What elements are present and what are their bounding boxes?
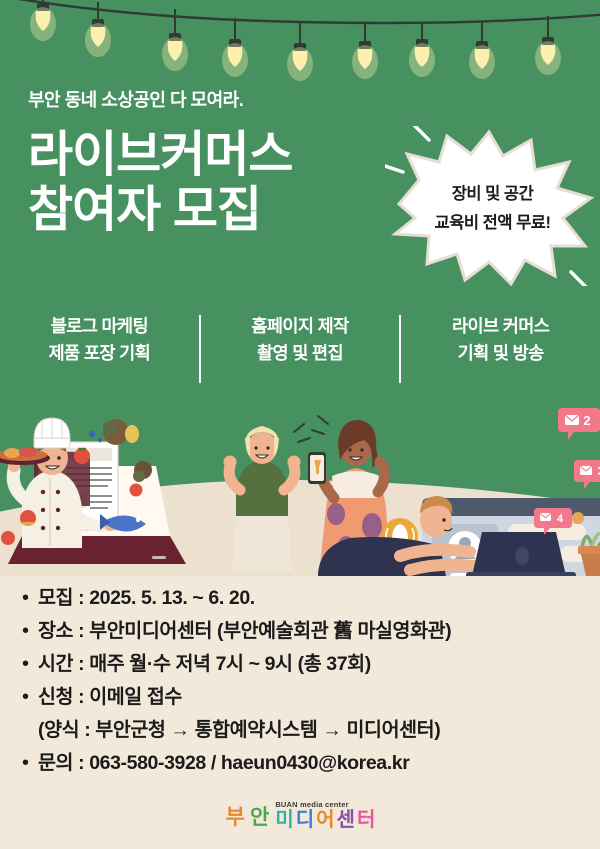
poster-root: 부안 동네 소상공인 다 모여라. 라이브커머스 참여자 모집 장비 및 공간 …: [0, 0, 600, 849]
logo-english-tagline: BUAN media center: [275, 800, 348, 809]
feature-1-line-2: 제품 포장 기획: [4, 340, 195, 367]
detail-time: 시간 : 매주 월·수 저녁 7시 ~ 9시 (총 37회): [38, 649, 371, 679]
logo-media-center: 미 디 어 센 터: [275, 810, 375, 830]
feature-2-line-2: 촬영 및 편집: [205, 340, 396, 367]
bullet-icon: •: [22, 649, 38, 679]
svg-text:4: 4: [557, 513, 564, 525]
detail-location: 장소 : 부안미디어센터 (부안예술회관 舊 마실영화관): [38, 616, 451, 646]
logo-char-mi: 미: [275, 810, 293, 830]
starburst-shape: [385, 126, 600, 286]
detail-row-form-path: (양식 : 부안군청 → 통합예약시스템 → 미디어센터): [22, 715, 592, 745]
feature-3-line-1: 라이브 커머스: [405, 313, 596, 340]
feature-column-3: 라이브 커머스 기획 및 방송: [401, 313, 600, 383]
feature-1-line-1: 블로그 마케팅: [4, 313, 195, 340]
feature-2-line-1: 홈페이지 제작: [205, 313, 396, 340]
string-lights-decoration: [0, 0, 600, 92]
illustration-scene: 2 3 4: [0, 396, 600, 576]
detail-apply: 신청 : 이메일 접수: [38, 682, 182, 712]
poster-title: 라이브커머스 참여자 모집: [28, 128, 292, 239]
feature-3-line-2: 기획 및 방송: [405, 340, 596, 367]
free-tuition-badge: 장비 및 공간 교육비 전액 무료!: [385, 126, 600, 286]
bullet-icon: •: [22, 616, 38, 646]
bullet-icon: •: [22, 682, 38, 712]
poster-subtitle: 부안 동네 소상공인 다 모여라.: [28, 86, 243, 112]
feature-column-1: 블로그 마케팅 제품 포장 기획: [0, 313, 199, 383]
detail-row-contact: • 문의 : 063-580-3928 / haeun0430@korea.kr: [22, 748, 592, 778]
message-badge: 3: [574, 460, 600, 489]
feature-columns: 블로그 마케팅 제품 포장 기획 홈페이지 제작 촬영 및 편집 라이브 커머스…: [0, 313, 600, 383]
bullet-icon: •: [22, 583, 38, 613]
title-line-1: 라이브커머스: [28, 128, 292, 183]
bullet-icon: •: [22, 748, 38, 778]
logo-char-eo: 어: [316, 810, 334, 830]
detail-row-apply: • 신청 : 이메일 접수: [22, 682, 592, 712]
message-badge: 2: [558, 408, 600, 440]
detail-recruit-period: 모집 : 2025. 5. 13. ~ 6. 20.: [38, 583, 255, 613]
footer-logo: 부 안 BUAN media center 미 디 어 센 터: [0, 800, 600, 830]
logo-char-teo: 터: [357, 810, 375, 830]
detail-row-location: • 장소 : 부안미디어센터 (부안예술회관 舊 마실영화관): [22, 616, 592, 646]
logo-buan: 부 안: [225, 805, 271, 830]
svg-text:2: 2: [583, 413, 590, 428]
logo-char-bu: 부: [225, 805, 246, 830]
detail-row-recruit: • 모집 : 2025. 5. 13. ~ 6. 20.: [22, 583, 592, 613]
detail-contact: 문의 : 063-580-3928 / haeun0430@korea.kr: [38, 748, 409, 778]
logo-char-sen: 센: [337, 810, 355, 830]
detail-form-path: (양식 : 부안군청 → 통합예약시스템 → 미디어센터): [38, 715, 440, 745]
detail-row-time: • 시간 : 매주 월·수 저녁 7시 ~ 9시 (총 37회): [22, 649, 592, 679]
logo-char-di: 디: [296, 810, 314, 830]
logo-char-an: 안: [249, 805, 270, 830]
feature-column-2: 홈페이지 제작 촬영 및 편집: [201, 313, 400, 383]
details-list: • 모집 : 2025. 5. 13. ~ 6. 20. • 장소 : 부안미디…: [22, 583, 592, 781]
title-line-2: 참여자 모집: [28, 183, 292, 238]
chef-illustration: [0, 418, 186, 564]
